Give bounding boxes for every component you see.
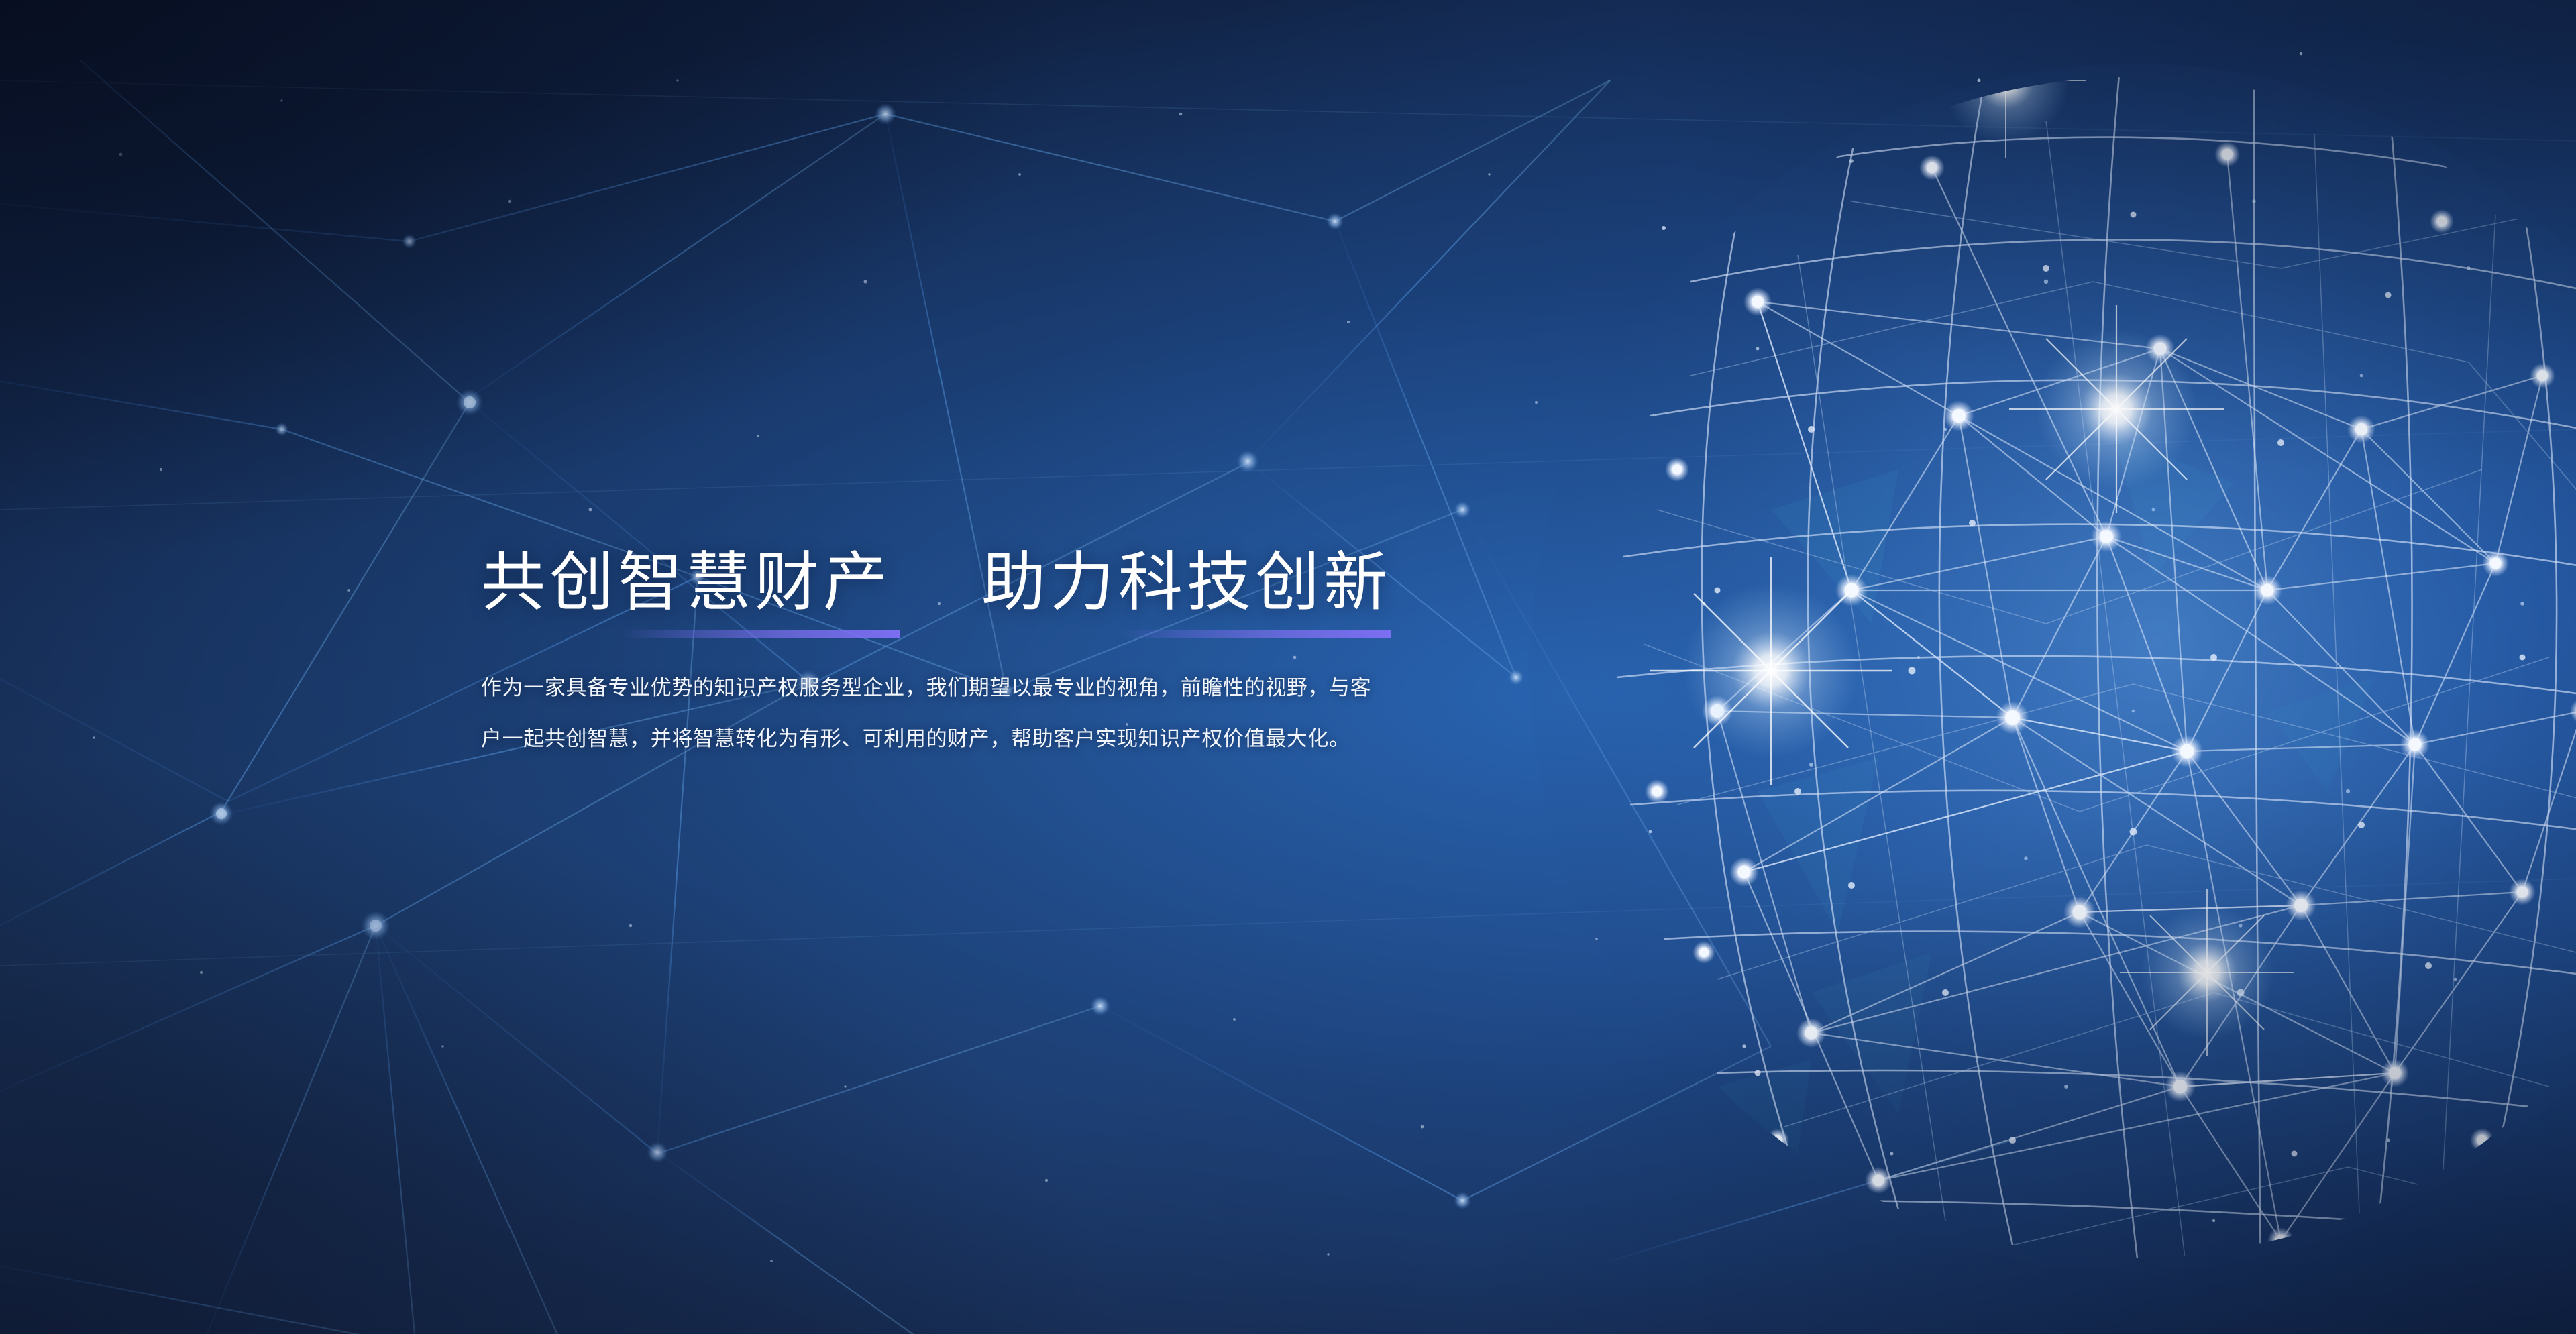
hero-banner: 共创智慧财产 助力科技创新 作为一家具备专业优势的知识产权服务型企业，我们期望以… (0, 0, 2576, 1334)
headline-accent-bar-2 (1121, 630, 1391, 638)
headline-phrase-1: 共创智慧财产 (481, 545, 900, 638)
hero-description: 作为一家具备专业优势的知识产权服务型企业，我们期望以最专业的视角，前瞻性的视野，… (481, 663, 1388, 765)
hero-headline: 共创智慧财产 助力科技创新 (481, 545, 1420, 638)
headline-accent-bar-1 (621, 630, 900, 638)
headline-phrase-2: 助力科技创新 (981, 545, 1392, 638)
hero-content: 共创智慧财产 助力科技创新 作为一家具备专业优势的知识产权服务型企业，我们期望以… (481, 545, 1420, 765)
headline-phrase-2-text: 助力科技创新 (981, 545, 1392, 620)
headline-phrase-1-text: 共创智慧财产 (481, 545, 900, 620)
